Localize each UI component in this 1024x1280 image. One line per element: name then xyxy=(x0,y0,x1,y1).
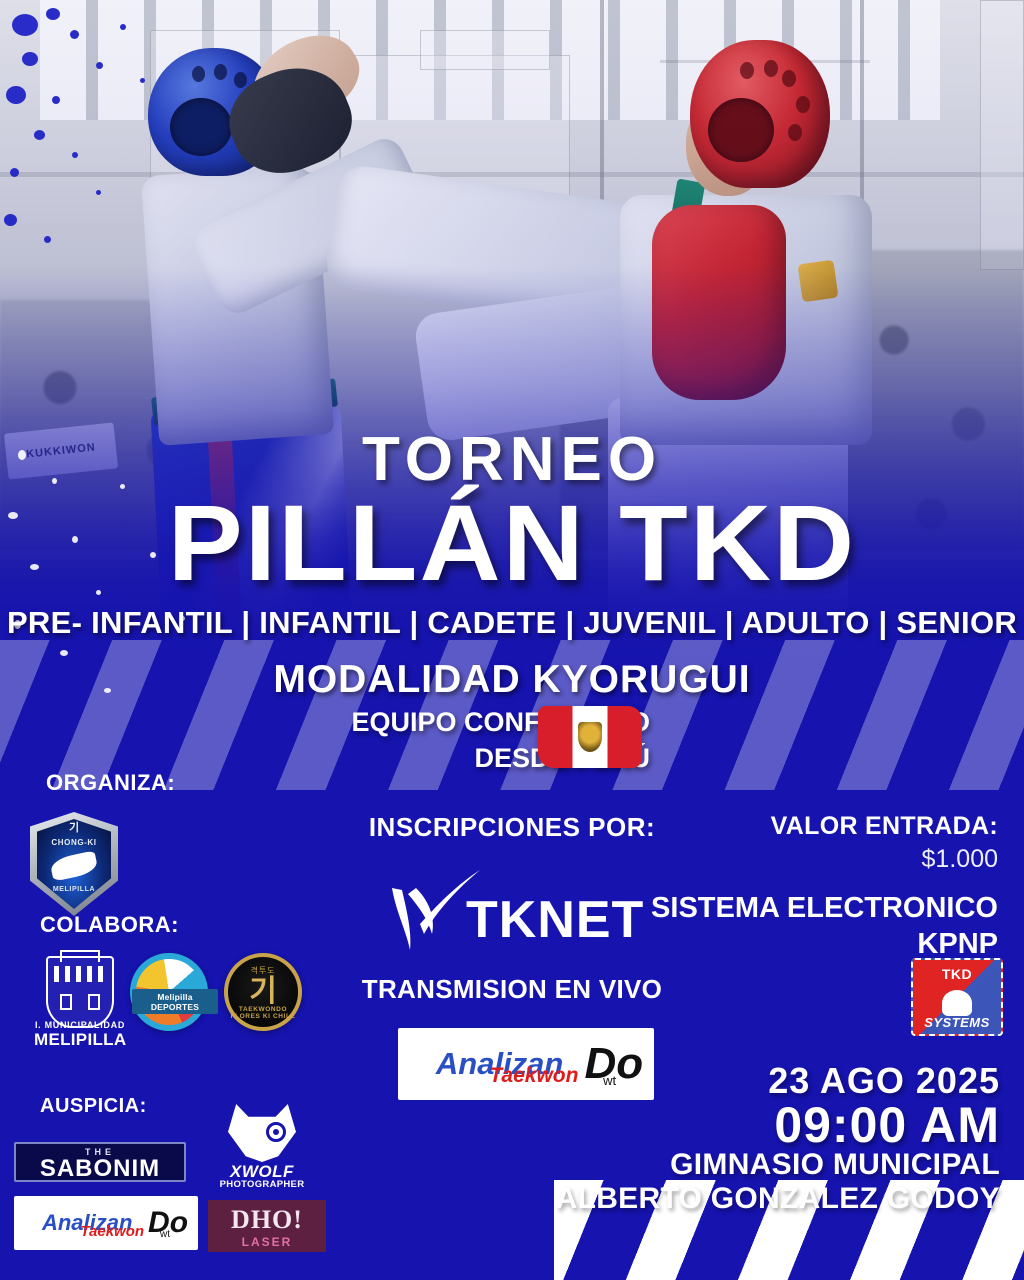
dho-subtitle: LASER xyxy=(208,1235,326,1249)
municipalidad-line1: I. MUNICIPALIDAD xyxy=(34,1020,126,1030)
the-sabonim-logo: THE SABONIM xyxy=(14,1142,186,1182)
camera-lens-icon xyxy=(266,1122,286,1142)
tournament-poster: KUKKIWON xyxy=(0,0,1024,1280)
flores-ki-glyph: 기 xyxy=(228,977,298,1007)
valor-entrada-label: VALOR ENTRADA: xyxy=(771,812,998,841)
event-venue-line2: ALBERTO GONZALEZ GODOY xyxy=(556,1182,1000,1216)
page-title: PILLÁN TKD xyxy=(0,486,1024,599)
chong-ki-melipilla-logo: 기 CHONG-KI MELIPILLA xyxy=(30,812,118,916)
modality-line: MODALIDAD KYORUGUI xyxy=(0,658,1024,702)
tknet-wordmark: TKNET xyxy=(466,890,644,950)
melipilla-deportes-label: Melipilla DEPORTES xyxy=(132,989,218,1014)
headgear-icon xyxy=(942,990,972,1016)
tknet-logo: TKNET xyxy=(370,868,660,956)
analizan-part2: Taekwon xyxy=(489,1064,578,1088)
event-time: 09:00 AM xyxy=(774,1096,1000,1154)
xwolf-photographer-logo: XWOLF PHOTOGRAPHER xyxy=(212,1100,312,1192)
dho-laser-logo: DHO! LASER xyxy=(208,1200,326,1252)
taekwondo-flores-ki-chile-logo: 격투도 기 TAEKWONDO FLORES KI CHILE xyxy=(224,953,302,1031)
chong-ki-name: CHONG-KI xyxy=(30,838,118,847)
valor-entrada-price: $1.000 xyxy=(922,845,998,874)
analizan-taekwondo-logo: Analizan Taekwon Do wt xyxy=(398,1028,654,1100)
xwolf-subtitle: PHOTOGRAPHER xyxy=(212,1179,312,1190)
municipalidad-melipilla-logo: I. MUNICIPALIDAD MELIPILLA xyxy=(34,950,126,1046)
tkd-systems-top: TKD xyxy=(913,966,1001,982)
tkd-systems-bottom: SYSTEMS xyxy=(913,1015,1001,1030)
melipilla-deportes-logo: Melipilla DEPORTES xyxy=(130,953,208,1031)
sabonim-name: SABONIM xyxy=(16,1155,184,1182)
analizan-part4: wt xyxy=(160,1229,170,1240)
analizan-part4: wt xyxy=(603,1073,616,1088)
peru-flag-icon xyxy=(538,706,642,768)
chong-ki-glyph: 기 xyxy=(30,819,118,835)
analizan-taekwondo-logo: Analizan Taekwon Do wt xyxy=(14,1196,198,1250)
organiza-label: ORGANIZA: xyxy=(46,770,175,796)
inscripciones-label: INSCRIPCIONES POR: xyxy=(312,812,712,843)
categories-line: PRE- INFANTIL | INFANTIL | CADETE | JUVE… xyxy=(0,605,1024,641)
analizan-part2: Taekwon xyxy=(80,1223,144,1240)
event-venue-line1: GIMNASIO MUNICIPAL xyxy=(670,1148,1000,1182)
colabora-label: COLABORA: xyxy=(40,912,179,938)
tkd-systems-logo: TKD SYSTEMS xyxy=(911,958,1003,1036)
municipalidad-line2: MELIPILLA xyxy=(34,1030,126,1050)
sistema-line1: SISTEMA ELECTRONICO xyxy=(651,890,998,926)
dho-name: DHO! xyxy=(208,1205,326,1235)
flores-ki-arc-text: TAEKWONDO FLORES KI CHILE xyxy=(228,1006,298,1020)
chong-ki-city: MELIPILLA xyxy=(30,886,118,893)
transmision-label: TRANSMISION EN VIVO xyxy=(312,974,712,1005)
sistema-electronico-block: SISTEMA ELECTRONICO KPNP xyxy=(651,890,998,963)
auspicia-label: AUSPICIA: xyxy=(40,1095,147,1118)
